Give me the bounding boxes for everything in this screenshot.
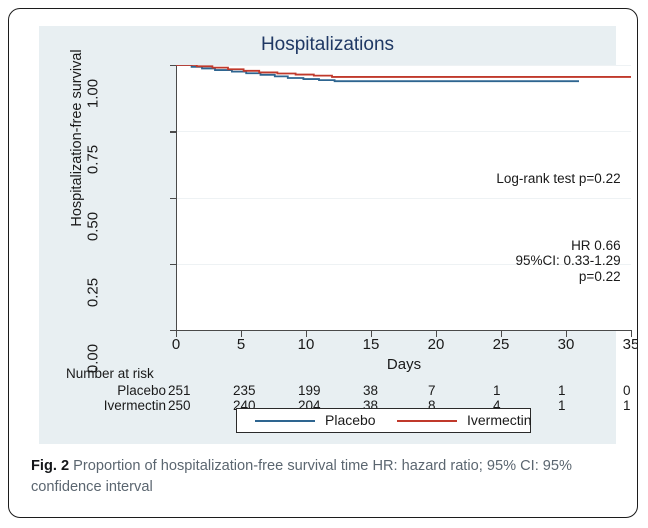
chart-title: Hospitalizations	[39, 34, 616, 56]
chart-legend: PlaceboIvermectin	[236, 408, 531, 433]
y-tick-label: 0.75	[85, 130, 102, 190]
risk-value: 1	[623, 398, 638, 413]
y-tick-label: 0.25	[85, 262, 102, 322]
risk-value: 1	[558, 398, 588, 413]
plot-area	[176, 65, 631, 330]
y-axis-title: Hospitalization-free survival	[69, 18, 85, 258]
legend-label-ivermectin: Ivermectin	[467, 412, 532, 428]
x-tick-label: 15	[351, 336, 391, 353]
risk-row-label: Placebo	[62, 383, 166, 398]
x-tick-label: 30	[546, 336, 586, 353]
risk-value: 235	[233, 383, 263, 398]
x-tick-label: 25	[481, 336, 521, 353]
figure-caption-text: Proportion of hospitalization-free survi…	[31, 458, 572, 495]
x-tick-label: 35	[611, 336, 638, 353]
risk-value: 199	[298, 383, 328, 398]
chart-panel: Hospitalizations 0.000.250.500.751.00 05…	[39, 26, 616, 444]
y-tick	[170, 131, 176, 132]
legend-line-placebo	[255, 420, 315, 422]
risk-table-title: Number at risk	[66, 366, 154, 381]
figure-caption: Fig. 2 Proportion of hospitalization-fre…	[31, 456, 611, 498]
gridline	[176, 198, 631, 199]
y-tick-label: 0.50	[85, 196, 102, 256]
x-tick-label: 20	[416, 336, 456, 353]
x-tick-label: 5	[221, 336, 261, 353]
x-axis-spine	[176, 330, 632, 331]
x-axis-title: Days	[176, 356, 632, 373]
figure-card: Hospitalizations 0.000.250.500.751.00 05…	[8, 8, 638, 518]
chart-annotation: 95%CI: 0.33-1.29	[321, 253, 621, 268]
x-tick-label: 0	[156, 336, 196, 353]
risk-value: 1	[558, 383, 588, 398]
risk-value: 7	[428, 383, 458, 398]
legend-line-ivermectin	[397, 420, 457, 422]
risk-value: 251	[168, 383, 198, 398]
risk-value: 250	[168, 398, 198, 413]
chart-annotation: HR 0.66	[321, 238, 621, 253]
y-tick	[170, 198, 176, 199]
legend-label-placebo: Placebo	[325, 412, 376, 428]
y-tick-label: 1.00	[85, 64, 102, 124]
gridline	[176, 65, 631, 66]
risk-value: 1	[493, 383, 523, 398]
risk-value: 38	[363, 383, 393, 398]
risk-row-label: Ivermectin	[62, 398, 166, 413]
figure-caption-label: Fig. 2	[31, 458, 69, 474]
y-tick	[170, 65, 176, 66]
x-tick-label: 10	[286, 336, 326, 353]
gridline	[176, 131, 631, 132]
chart-annotation: Log-rank test p=0.22	[321, 171, 621, 186]
y-tick	[170, 264, 176, 265]
risk-value: 0	[623, 383, 638, 398]
chart-annotation: p=0.22	[321, 269, 621, 284]
y-axis-spine	[176, 65, 177, 331]
